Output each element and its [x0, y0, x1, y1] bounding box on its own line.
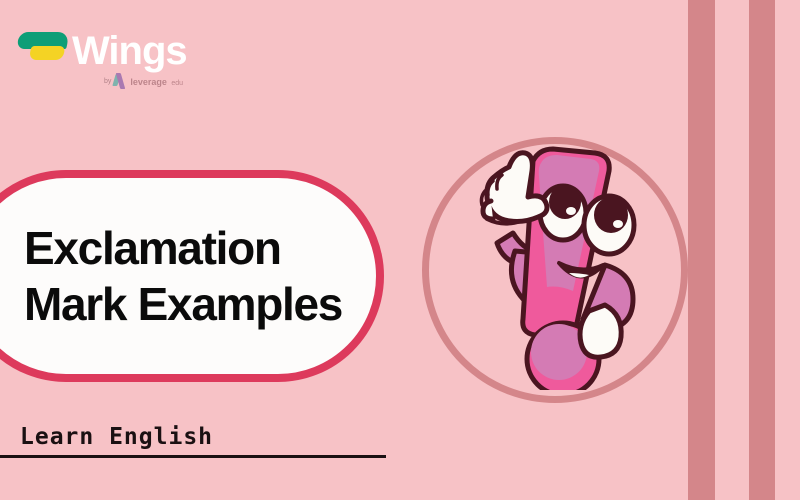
check-icon-long-stroke — [116, 73, 126, 89]
byline-partner-name: leverage — [130, 77, 167, 87]
brand-wordmark: Wings — [72, 32, 187, 70]
brand-logo: Wings by leverage edu — [18, 18, 218, 108]
byline-partner: leverage edu — [130, 72, 183, 90]
footer-divider — [0, 455, 386, 458]
poster-canvas: Wings by leverage edu Exclamation Mark E… — [0, 0, 800, 500]
decorative-stripe-left — [688, 0, 715, 500]
wing-icon-bottom — [29, 46, 66, 60]
decorative-stripe-right — [749, 0, 775, 500]
exclamation-mark-mascot — [455, 145, 665, 390]
brand-row: Wings — [18, 18, 218, 70]
brand-byline: by leverage edu — [104, 72, 218, 90]
title-card: Exclamation Mark Examples — [0, 170, 384, 382]
footer-label: Learn English — [20, 424, 213, 450]
check-icon — [114, 73, 127, 90]
page-title-line-1: Exclamation — [24, 220, 358, 276]
byline-partner-sub: edu — [171, 80, 183, 87]
page-title-line-2: Mark Examples — [24, 276, 358, 332]
byline-by-label: by — [104, 78, 111, 85]
wing-icon — [18, 26, 70, 66]
